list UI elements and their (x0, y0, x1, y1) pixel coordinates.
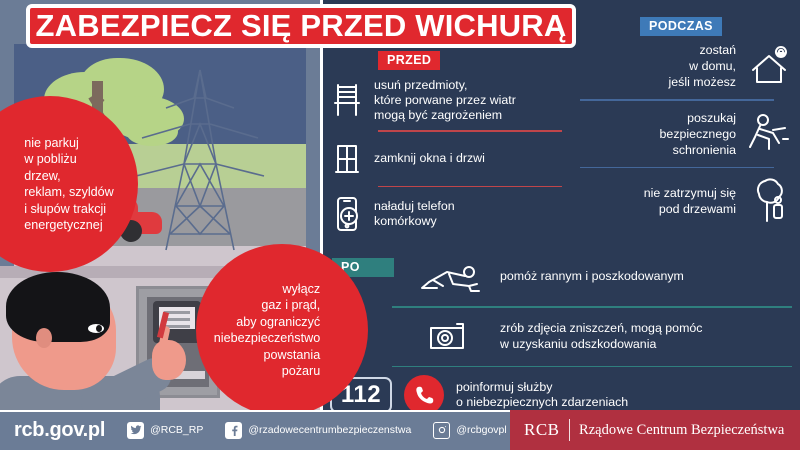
tree-person-icon (746, 177, 792, 225)
twitter-icon (127, 422, 144, 439)
badge-przed: PRZED (378, 51, 440, 70)
house-pin-icon (746, 42, 792, 90)
facebook-handle-label: @rzadowecentrumbezpieczenstwa (248, 424, 411, 436)
turn-off-gas-callout-text: wyłączgaz i prąd,aby ograniczyćniebezpie… (214, 281, 350, 380)
list-item-label: nie zatrzymuj siępod drzewami (570, 185, 736, 217)
page-title-text: ZABEZPIECZ SIĘ PRZED WICHURĄ (36, 8, 567, 44)
page-title: ZABEZPIECZ SIĘ PRZED WICHURĄ (26, 4, 576, 48)
instagram-icon (433, 422, 450, 439)
list-item: 112 poinformuj służbyo niebezpiecznych z… (330, 375, 792, 415)
list-item: usuń przedmioty,które porwane przez wiat… (330, 78, 562, 123)
instagram-handle-label: @rcbgovpl (456, 424, 506, 436)
facebook-icon (225, 422, 242, 439)
divider (392, 306, 792, 308)
rcb-logo-full-name: Rządowe Centrum Bezpieczeństwa (579, 422, 784, 439)
divider (378, 130, 562, 132)
running-person-icon (746, 110, 792, 158)
instagram-handle[interactable]: @rcbgovpl (433, 422, 506, 439)
list-item-label: zrób zdjęcia zniszczeń, mogą pomócw uzys… (500, 321, 702, 352)
list-item: poszukajbezpiecznegoschronienia (570, 110, 792, 158)
emergency-phone-icon (404, 375, 444, 415)
list-item: zrób zdjęcia zniszczeń, mogą pomócw uzys… (330, 316, 792, 358)
list-item: pomóż rannym i poszkodowanym (330, 256, 792, 298)
footer-bar: rcb.gov.pl @RCB_RP @rzadowecentrumbezpie… (0, 410, 800, 450)
list-item-label: poinformuj służbyo niebezpiecznych zdarz… (456, 380, 628, 411)
list-item-label: poszukajbezpiecznegoschronienia (570, 110, 736, 158)
list-item-label: usuń przedmioty,które porwane przez wiat… (374, 78, 516, 123)
twitter-handle-label: @RCB_RP (150, 424, 203, 436)
list-item: nie zatrzymuj siępod drzewami (570, 177, 792, 225)
injured-person-icon (416, 256, 488, 298)
divider (378, 186, 562, 188)
list-item-label: naładuj telefonkomórkowy (374, 199, 455, 229)
badge-podczas: PODCZAS (640, 17, 722, 36)
divider (580, 99, 774, 101)
phone-charge-icon (330, 194, 364, 234)
list-item-label: zamknij okna i drzwi (374, 151, 485, 166)
list-item-label: zostańw domu,jeśli możesz (570, 42, 736, 90)
before-list: usuń przedmioty,które porwane przez wiat… (330, 78, 562, 234)
list-item: zostańw domu,jeśli możesz (570, 42, 792, 90)
after-list: pomóż rannym i poszkodowanym zrób zdjęci… (330, 256, 792, 415)
camera-icon (416, 316, 488, 358)
advice-panel: PRZED PODCZAS PO usuń przedmioty,które p… (320, 0, 800, 410)
list-item-label: pomóż rannym i poszkodowanym (500, 269, 684, 285)
no-parking-callout-text: nie parkujw pobliżudrzew,reklam, szyldów… (0, 135, 114, 234)
rcb-logo: RCB Rządowe Centrum Bezpieczeństwa (510, 410, 800, 450)
facebook-handle[interactable]: @rzadowecentrumbezpieczenstwa (225, 422, 411, 439)
during-list: zostańw domu,jeśli możesz poszukajbezpie… (570, 42, 792, 225)
list-item: naładuj telefonkomórkowy (330, 194, 562, 234)
divider (580, 167, 774, 169)
rcb-logo-separator (569, 419, 571, 441)
list-item: zamknij okna i drzwi (330, 139, 562, 179)
divider (392, 366, 792, 368)
turn-off-gas-callout: wyłączgaz i prąd,aby ograniczyćniebezpie… (196, 244, 368, 416)
window-icon (330, 139, 364, 179)
rcb-logo-mark: RCB (524, 420, 560, 440)
website-link[interactable]: rcb.gov.pl (14, 419, 105, 442)
twitter-handle[interactable]: @RCB_RP (127, 422, 203, 439)
chair-icon (330, 81, 364, 121)
